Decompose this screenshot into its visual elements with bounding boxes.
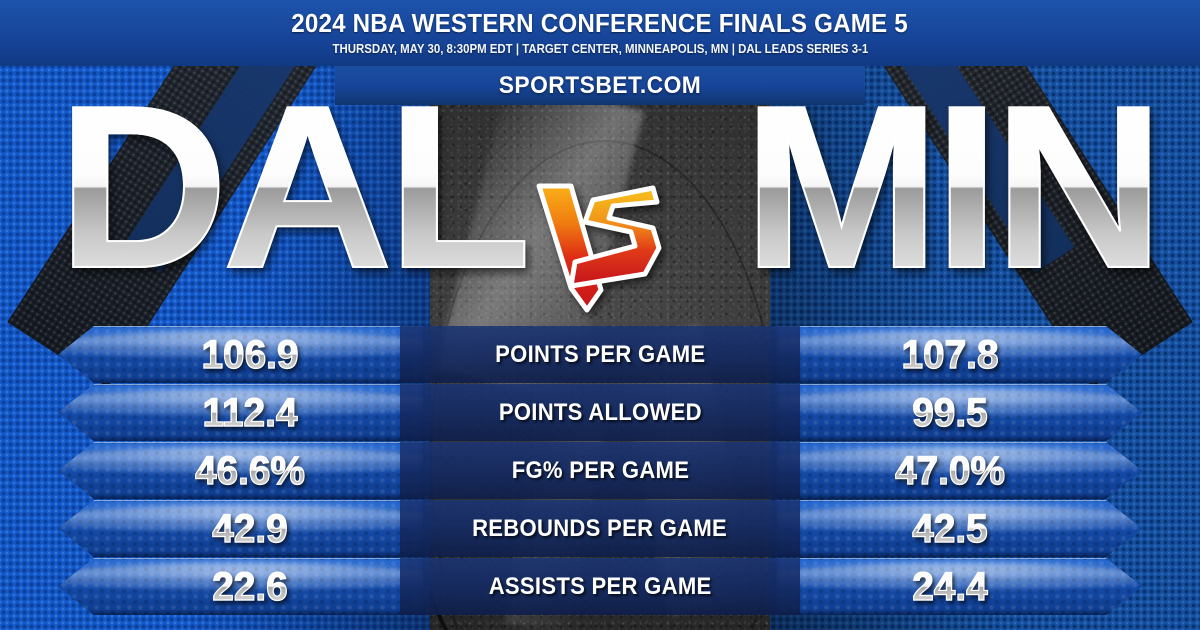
- away-stat-value: 22.6: [124, 558, 376, 615]
- table-row: 46.6% FG% PER GAME 47.0%: [0, 442, 1200, 499]
- away-stat-value: 46.6%: [124, 442, 376, 499]
- home-stat-value: 24.4: [824, 558, 1076, 615]
- home-stat-value: 47.0%: [824, 442, 1076, 499]
- stat-label-band: POINTS ALLOWED: [400, 384, 800, 441]
- stat-label: POINTS ALLOWED: [498, 399, 701, 427]
- stat-label: FG% PER GAME: [511, 457, 689, 485]
- stat-label: REBOUNDS PER GAME: [473, 515, 728, 543]
- stat-label: ASSISTS PER GAME: [489, 573, 712, 601]
- table-row: 22.6 ASSISTS PER GAME 24.4: [0, 558, 1200, 615]
- home-stat-value: 107.8: [824, 326, 1076, 383]
- table-row: 106.9 POINTS PER GAME 107.8: [0, 326, 1200, 383]
- vs-icon: [527, 170, 677, 320]
- away-stat-value: 112.4: [124, 384, 376, 441]
- matchup-graphic: DAL MIN 2024 NBA WESTERN CONFERENCE FINA…: [0, 0, 1200, 630]
- home-stat-value: 99.5: [824, 384, 1076, 441]
- stat-label-band: FG% PER GAME: [400, 442, 800, 499]
- away-stat-value: 106.9: [124, 326, 376, 383]
- home-stat-value: 42.5: [824, 500, 1076, 557]
- table-row: 42.9 REBOUNDS PER GAME 42.5: [0, 500, 1200, 557]
- table-row: 112.4 POINTS ALLOWED 99.5: [0, 384, 1200, 441]
- stat-label: POINTS PER GAME: [495, 341, 705, 369]
- stat-label-band: REBOUNDS PER GAME: [400, 500, 800, 557]
- stat-label-band: ASSISTS PER GAME: [400, 558, 800, 615]
- stat-label-band: POINTS PER GAME: [400, 326, 800, 383]
- away-stat-value: 42.9: [124, 500, 376, 557]
